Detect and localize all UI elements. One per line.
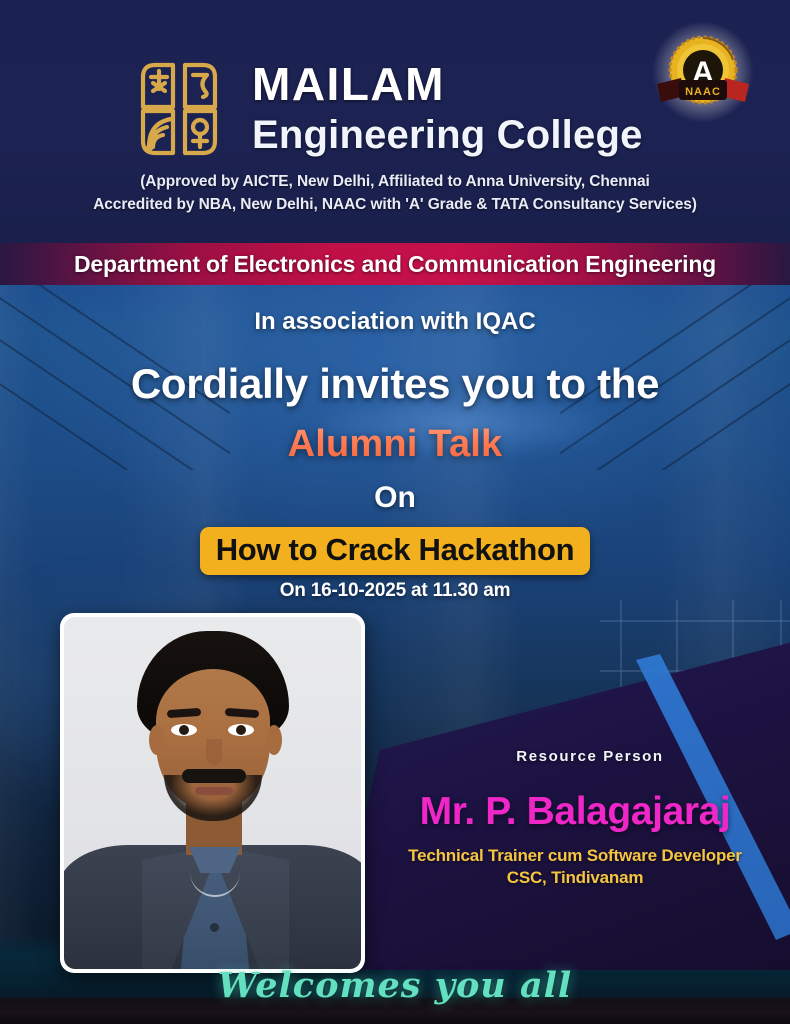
- department-banner-text: Department of Electronics and Communicat…: [74, 251, 716, 278]
- accreditation-text: (Approved by AICTE, New Delhi, Affiliate…: [0, 170, 790, 216]
- resource-person-role: Technical Trainer cum Software Developer…: [365, 845, 785, 889]
- portrait-moustache: [182, 769, 246, 783]
- invitation-line: Cordially invites you to the: [0, 360, 790, 408]
- approval-line-2: Accredited by NBA, New Delhi, NAAC with …: [0, 193, 790, 216]
- poster-header: A NAAC MAILAM Engineering College (Appro…: [0, 0, 790, 243]
- portrait-shirt-button: [210, 923, 219, 932]
- event-type-title: Alumni Talk: [0, 423, 790, 466]
- college-name: MAILAM Engineering College: [252, 58, 682, 160]
- on-connector-word: On: [0, 481, 790, 515]
- resource-person-name: Mr. P. Balagajaraj: [360, 790, 790, 834]
- svg-text:NAAC: NAAC: [685, 86, 721, 98]
- resource-person-photo: [64, 617, 361, 969]
- resource-person-photo-frame: [60, 613, 365, 973]
- event-poster: A NAAC MAILAM Engineering College (Appro…: [0, 0, 790, 1024]
- college-name-line2: Engineering College: [252, 110, 682, 160]
- resource-person-role-line2: CSC, Tindivanam: [365, 867, 785, 889]
- resource-person-role-line1: Technical Trainer cum Software Developer: [365, 845, 785, 867]
- portrait-mouth: [195, 787, 233, 795]
- portrait-eye-left: [171, 724, 197, 736]
- portrait-ear-right: [266, 725, 282, 755]
- portrait-ear-left: [149, 725, 165, 755]
- topic-title: How to Crack Hackathon: [200, 527, 591, 575]
- mailam-college-logo-icon: [137, 57, 221, 161]
- college-name-line1: MAILAM: [252, 58, 682, 110]
- event-datetime: On 16-10-2025 at 11.30 am: [0, 580, 790, 602]
- topic-container: How to Crack Hackathon: [0, 527, 790, 575]
- resource-person-label: Resource Person: [390, 748, 790, 765]
- approval-line-1: (Approved by AICTE, New Delhi, Affiliate…: [0, 170, 790, 193]
- department-banner: Department of Electronics and Communicat…: [0, 243, 790, 285]
- portrait-eye-right: [228, 724, 254, 736]
- association-line: In association with IQAC: [0, 308, 790, 336]
- welcome-message: Welcomes you all: [0, 965, 790, 1006]
- portrait-nose: [206, 739, 222, 765]
